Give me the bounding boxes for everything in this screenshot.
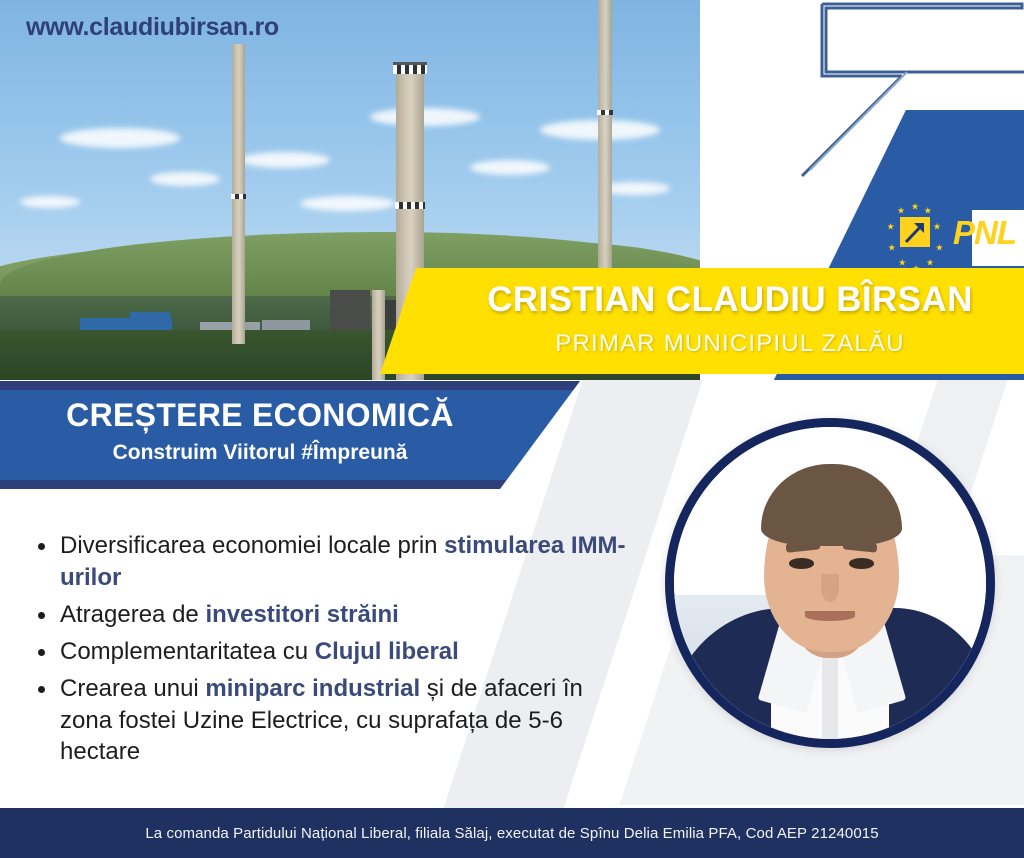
bullet-highlight: Clujul liberal [315,638,459,665]
list-item: Diversificarea economiei locale prin sti… [28,530,638,594]
list-item: Crearea unui miniparc industrial și de a… [28,673,638,769]
eu-stars-icon: ★ ★ ★ ★ ★ ★ ★ ★ ★ ★ [886,203,944,261]
footer-disclaimer-bar: La comanda Partidului Național Liberal, … [0,808,1024,858]
shirt-placket [822,652,838,748]
cloud [470,160,550,175]
stack-ring [597,110,613,115]
smokestack-right [598,0,612,290]
stack-ring [395,202,425,209]
cloud [150,172,220,186]
list-item: Atragerea de investitori străini [28,599,638,631]
policy-bullet-list: Diversificarea economiei locale prin sti… [28,530,638,773]
banner-top-edge [0,381,640,390]
cloud [20,196,80,208]
nose [821,574,840,602]
eye-right [849,558,874,569]
pnl-arrow-icon [900,217,930,247]
mouth [805,611,855,621]
campaign-poster: www.claudiubirsan.ro ★ ★ ★ ★ ★ ★ ★ ★ ★ ★ [0,0,1024,858]
stack-ring [231,194,246,199]
list-item: Complementaritatea cu Clujul liberal [28,636,638,668]
bullet-text: Atragerea de [60,601,205,628]
pnl-logo[interactable]: ★ ★ ★ ★ ★ ★ ★ ★ ★ ★ PNL [886,203,1016,261]
bullet-highlight: miniparc industrial [205,675,420,702]
cloud [370,108,480,126]
candidate-office: PRIMAR MUNICIPIUL ZALĂU [440,330,1020,358]
stack-cap [393,62,427,74]
eye-left [789,558,814,569]
bullet-text: Complementaritatea cu [60,638,315,665]
candidate-name-banner: CRISTIAN CLAUDIU BÎRSAN PRIMAR MUNICIPIU… [380,268,1024,374]
bullet-items: Diversificarea economiei locale prin sti… [28,530,638,768]
cloud [240,152,330,168]
headline-subtitle: Construim Viitorul #Împreună [0,441,520,465]
bullet-text: Diversificarea economiei locale prin [60,532,444,559]
headline-title: CREȘTERE ECONOMICĂ [0,397,520,434]
cloud [300,196,395,211]
bullet-text: Crearea unui [60,675,205,702]
footer-disclaimer-text: La comanda Partidului Național Liberal, … [145,825,878,842]
website-url[interactable]: www.claudiubirsan.ro [26,13,279,42]
cloud [60,128,180,148]
smokestack-left [232,44,245,344]
bullet-highlight: investitori străini [205,601,398,628]
candidate-name: CRISTIAN CLAUDIU BÎRSAN [440,280,1020,320]
candidate-portrait [665,418,995,748]
pnl-wordmark: PNL [953,216,1016,249]
